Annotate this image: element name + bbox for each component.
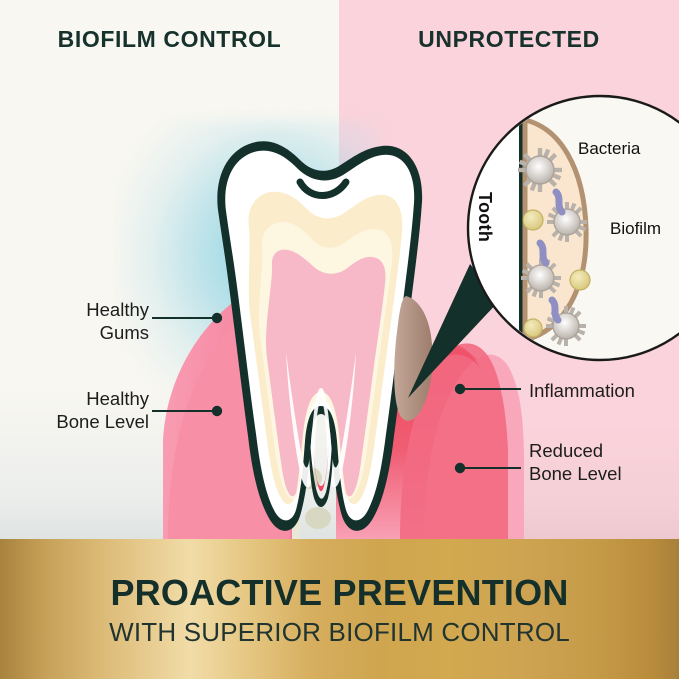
- inset-label-tooth: Tooth: [474, 192, 495, 242]
- bottom-banner: PROACTIVE PREVENTION WITH SUPERIOR BIOFI…: [0, 539, 679, 679]
- banner-headline: PROACTIVE PREVENTION: [0, 572, 679, 614]
- callout-reduced-bone-level: Reduced Bone Level: [529, 440, 679, 485]
- callout-healthy-gums: Healthy Gums: [9, 299, 149, 344]
- infographic-root: BIOFILM CONTROL UNPROTECTED: [0, 0, 679, 679]
- inset-label-bacteria: Bacteria: [578, 139, 640, 159]
- inset-label-biofilm: Biofilm: [610, 219, 661, 239]
- callout-inflammation: Inflammation: [529, 380, 679, 403]
- callout-healthy-bone-level: Healthy Bone Level: [0, 388, 149, 433]
- banner-subhead: WITH SUPERIOR BIOFILM CONTROL: [0, 617, 679, 648]
